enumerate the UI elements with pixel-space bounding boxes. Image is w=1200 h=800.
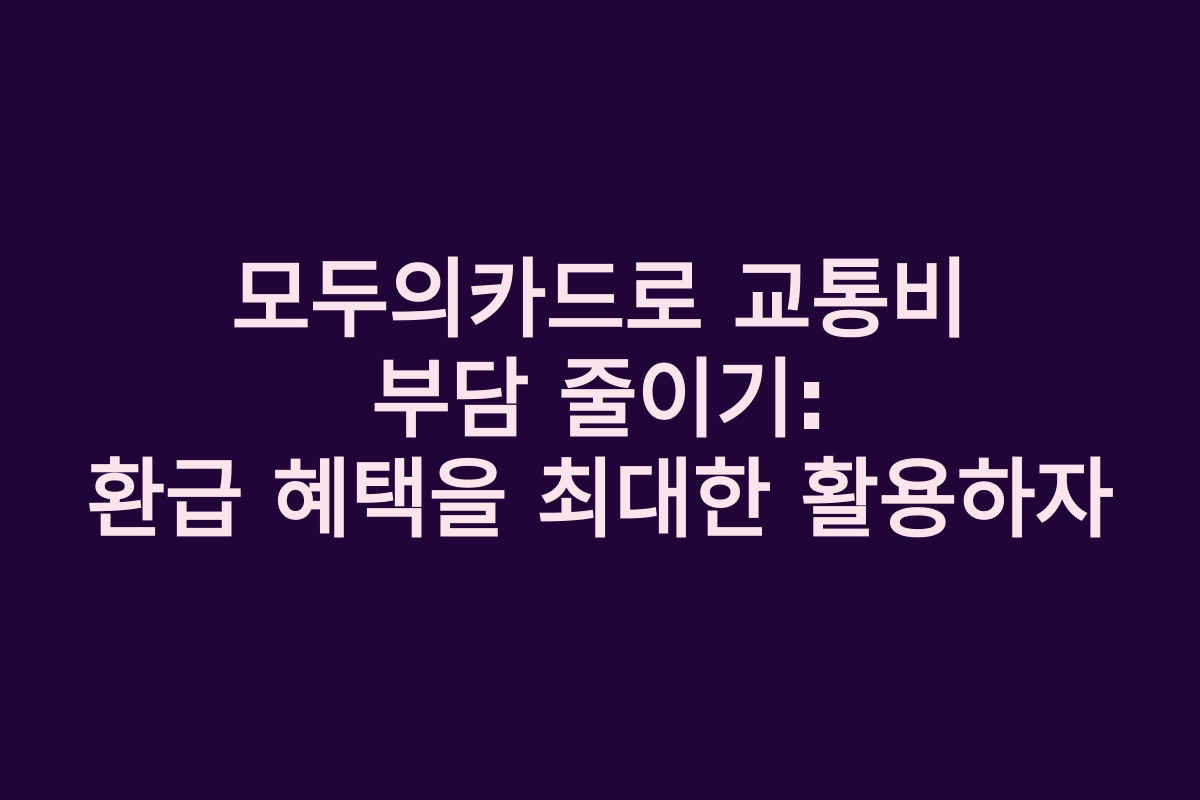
title-card: 모두의카드로 교통비 부담 줄이기: 환급 혜택을 최대한 활용하자 xyxy=(0,0,1200,800)
headline-line-1: 모두의카드로 교통비 xyxy=(8,250,1192,350)
headline-line-3: 환급 혜택을 최대한 활용하자 xyxy=(11,450,1189,550)
headline-block: 모두의카드로 교통비 부담 줄이기: 환급 혜택을 최대한 활용하자 xyxy=(0,250,1200,550)
headline-line-2: 부담 줄이기: xyxy=(8,350,1192,450)
